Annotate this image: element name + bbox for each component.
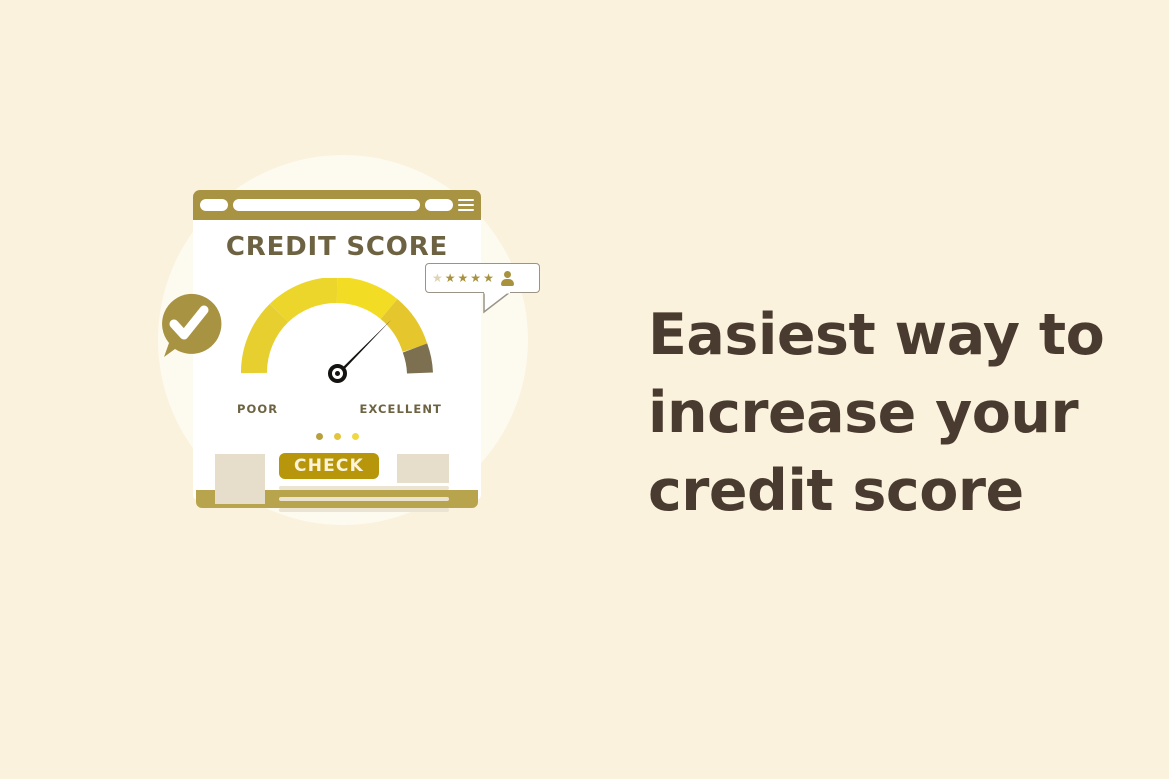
card-lower-content: CHECK (193, 448, 481, 503)
browser-address-bar[interactable] (233, 199, 420, 211)
user-avatar-icon (501, 271, 514, 286)
browser-action-pill[interactable] (425, 199, 453, 211)
gauge-scale-labels: POOR EXCELLENT (237, 402, 442, 416)
dot-1[interactable] (316, 433, 323, 440)
gauge-label-poor: POOR (237, 402, 278, 416)
rating-tooltip: ★ ★ ★ ★ ★ (425, 263, 540, 308)
headline-line-3: credit score (648, 452, 1088, 530)
credit-score-gauge (237, 278, 437, 398)
rating-tooltip-box: ★ ★ ★ ★ ★ (425, 263, 540, 293)
browser-card: CREDIT SCORE POOR (193, 190, 481, 515)
checkmark-speech-bubble-icon (156, 291, 222, 361)
dot-2[interactable] (334, 433, 341, 440)
headline-line-1: Easiest way to (648, 296, 1088, 374)
hamburger-menu-icon[interactable] (458, 199, 474, 211)
browser-top-bar (193, 190, 481, 220)
promo-canvas: CREDIT SCORE POOR (0, 0, 1169, 779)
check-button[interactable]: CHECK (279, 453, 379, 479)
star-icon-5: ★ (483, 272, 494, 284)
tooltip-tail (483, 292, 513, 314)
headline-line-2: increase your (648, 374, 1088, 452)
placeholder-text-lines (279, 486, 449, 519)
dot-3[interactable] (352, 433, 359, 440)
browser-back-pill[interactable] (200, 199, 228, 211)
headline: Easiest way to increase your credit scor… (648, 296, 1088, 530)
star-icon-4: ★ (470, 272, 481, 284)
gauge-label-excellent: EXCELLENT (360, 402, 443, 416)
page-title: CREDIT SCORE (193, 232, 481, 262)
placeholder-block-right (397, 454, 449, 483)
star-icon-1: ★ (432, 272, 443, 284)
star-icon-3: ★ (458, 272, 469, 284)
credit-score-illustration: CREDIT SCORE POOR (140, 150, 560, 570)
star-icon-2: ★ (445, 272, 456, 284)
placeholder-block-left (215, 454, 265, 504)
pagination-dots (193, 433, 481, 440)
gauge-needle-hub (328, 364, 347, 383)
